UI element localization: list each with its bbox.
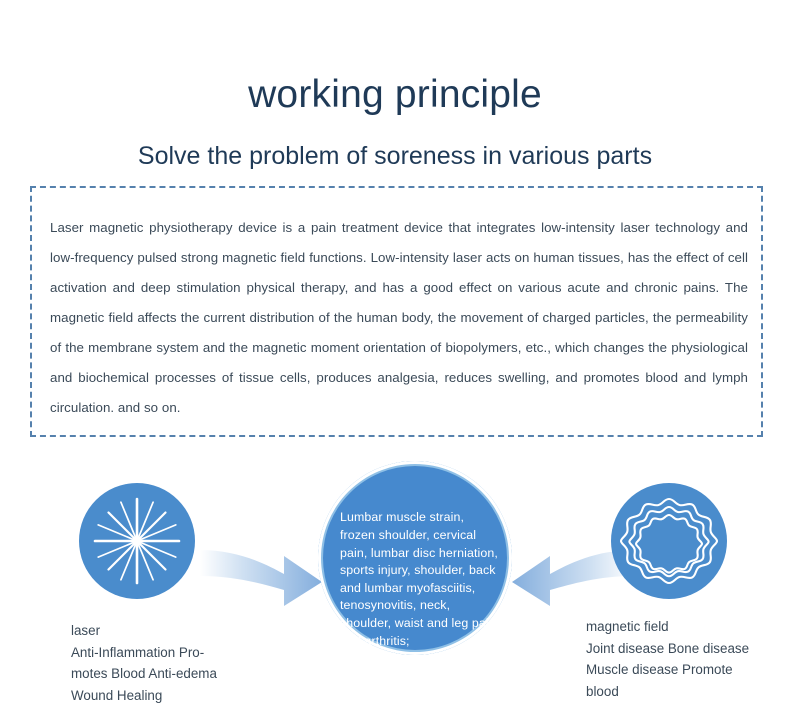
center-indications-circle: Lumbar muscle strain, frozen shoulder, c… (318, 461, 512, 655)
laser-starburst-icon (79, 483, 195, 599)
description-box: Laser magnetic physiotherapy device is a… (30, 186, 763, 437)
page-title: working principle (0, 74, 790, 117)
magnetic-field-icon-circle (611, 483, 727, 599)
working-principle-diagram: Lumbar muscle strain, frozen shoulder, c… (0, 455, 790, 724)
magnetic-field-caption: magnetic field Joint disease Bone diseas… (586, 616, 786, 703)
arrow-right-icon (198, 532, 328, 612)
laser-icon-circle (79, 483, 195, 599)
page-subtitle: Solve the problem of soreness in various… (0, 141, 790, 171)
magnetic-field-waves-icon (611, 483, 727, 599)
description-text: Laser magnetic physiotherapy device is a… (50, 213, 748, 422)
laser-caption: laser Anti-Inflammation Pro- motes Blood… (71, 620, 301, 707)
center-indications-text: Lumbar muscle strain, frozen shoulder, c… (340, 509, 498, 650)
